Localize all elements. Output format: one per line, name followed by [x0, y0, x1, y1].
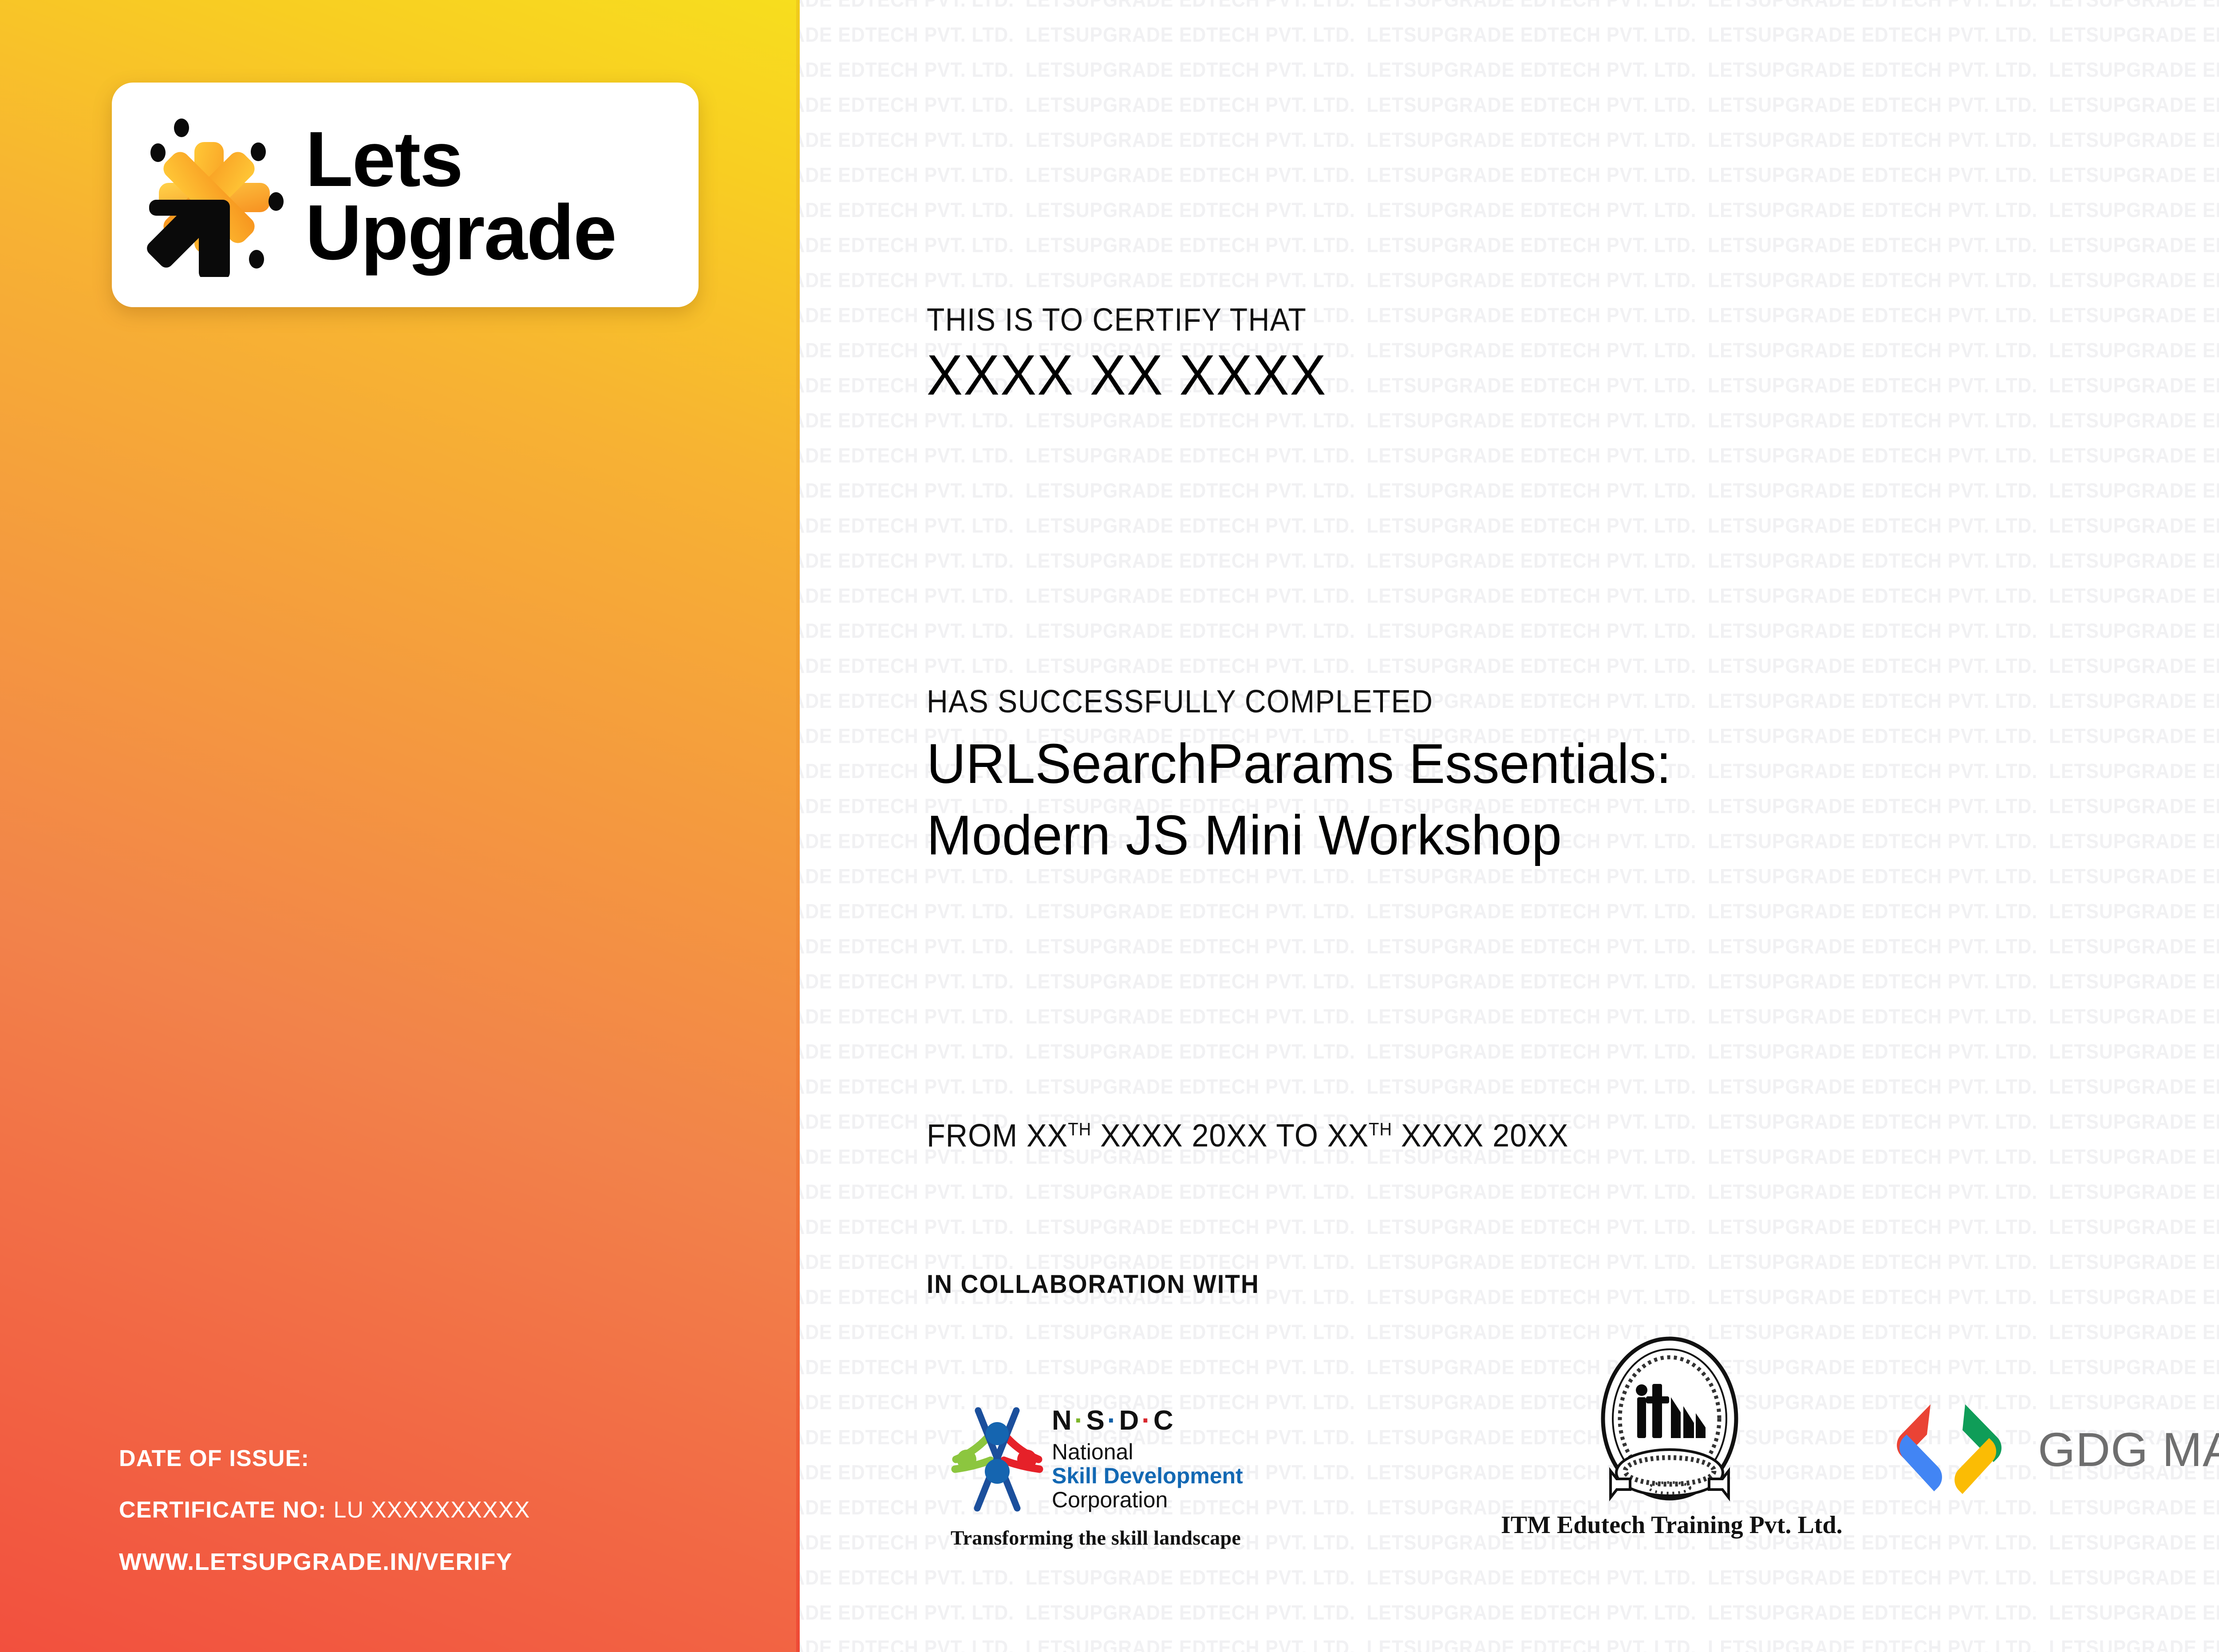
- nsdc-initials: N·S·D·C: [1052, 1407, 1243, 1435]
- completed-label: HAS SUCCESSFULLY COMPLETED: [927, 684, 1433, 720]
- nsdc-human-figure-logo-icon: [951, 1403, 1044, 1518]
- verify-url[interactable]: WWW.LETSUPGRADE.IN/VERIFY: [119, 1548, 749, 1576]
- date-range: FROM XXTH XXXX 20XX TO XXTH XXXX 20XX: [927, 1118, 1568, 1154]
- course-title-line2: Modern JS Mini Workshop: [927, 799, 2175, 871]
- date-range-ordinal-1: TH: [1068, 1119, 1091, 1139]
- date-range-suffix: XXXX 20XX: [1392, 1118, 1568, 1154]
- letsupgrade-asterisk-logo-icon: [138, 113, 293, 277]
- nsdc-dot-green: ·: [1074, 1405, 1086, 1436]
- course-title-line1: URLSearchParams Essentials:: [927, 728, 2175, 799]
- date-of-issue-row: DATE OF ISSUE:: [119, 1445, 749, 1472]
- gdg-chevrons-logo-icon: [1878, 1398, 2020, 1500]
- date-of-issue-label: DATE OF ISSUE:: [119, 1446, 309, 1471]
- itm-crest-seal-icon: [1596, 1332, 1743, 1509]
- partner-nsdc: N·S·D·C National Skill Development Corpo…: [951, 1403, 1341, 1549]
- course-title: URLSearchParams Essentials: Modern JS Mi…: [927, 728, 2175, 871]
- partner-itm: ITM Edutech Training Pvt. Ltd.: [1501, 1332, 1838, 1539]
- certificate-no-value: LU XXXXXXXXXX: [333, 1497, 530, 1523]
- date-range-prefix: FROM XX: [927, 1118, 1068, 1154]
- partner-logos: N·S·D·C National Skill Development Corpo…: [928, 1332, 2219, 1598]
- nsdc-initial-n: N: [1052, 1405, 1074, 1436]
- certificate-no-label: CERTIFICATE NO:: [119, 1497, 327, 1523]
- nsdc-initial-c: C: [1153, 1405, 1176, 1436]
- certificate-body-panel: LETSUPGRADE EDTECH PVT. LTD. LETSUPGRADE…: [800, 0, 2219, 1652]
- nsdc-initial-d: D: [1119, 1405, 1141, 1436]
- brand-logo-card: Lets Upgrade: [112, 83, 699, 307]
- brand-wordmark-line2: Upgrade: [305, 196, 616, 269]
- nsdc-dot-blue: ·: [1107, 1405, 1119, 1436]
- itm-caption: ITM Edutech Training Pvt. Ltd.: [1501, 1511, 1838, 1539]
- left-gradient-panel: Lets Upgrade DATE OF ISSUE: CERTIFICATE …: [0, 0, 800, 1652]
- recipient-name: XXXX XX XXXX: [927, 343, 1327, 408]
- nsdc-initial-s: S: [1086, 1405, 1107, 1436]
- collaboration-label: IN COLLABORATION WITH: [927, 1269, 1260, 1299]
- date-range-mid: XXXX 20XX TO XX: [1091, 1118, 1369, 1154]
- nsdc-line-national: National: [1052, 1440, 1243, 1464]
- date-range-ordinal-2: TH: [1369, 1119, 1392, 1139]
- certify-label: THIS IS TO CERTIFY THAT: [927, 302, 1307, 338]
- brand-wordmark-line1: Lets: [305, 123, 616, 196]
- certificate-page: Lets Upgrade DATE OF ISSUE: CERTIFICATE …: [0, 0, 2219, 1652]
- nsdc-line-corporation: Corporation: [1052, 1488, 1243, 1512]
- brand-wordmark: Lets Upgrade: [305, 123, 616, 270]
- nsdc-tagline: Transforming the skill landscape: [951, 1526, 1341, 1549]
- partner-gdg: GDG MAD: [1878, 1398, 2219, 1500]
- nsdc-line-skill-development: Skill Development: [1052, 1464, 1243, 1488]
- issue-details: DATE OF ISSUE: CERTIFICATE NO: LU XXXXXX…: [119, 1445, 749, 1576]
- gdg-label: GDG MAD: [2038, 1422, 2219, 1477]
- nsdc-dot-red: ·: [1141, 1405, 1153, 1436]
- certificate-no-row: CERTIFICATE NO: LU XXXXXXXXXX: [119, 1497, 749, 1523]
